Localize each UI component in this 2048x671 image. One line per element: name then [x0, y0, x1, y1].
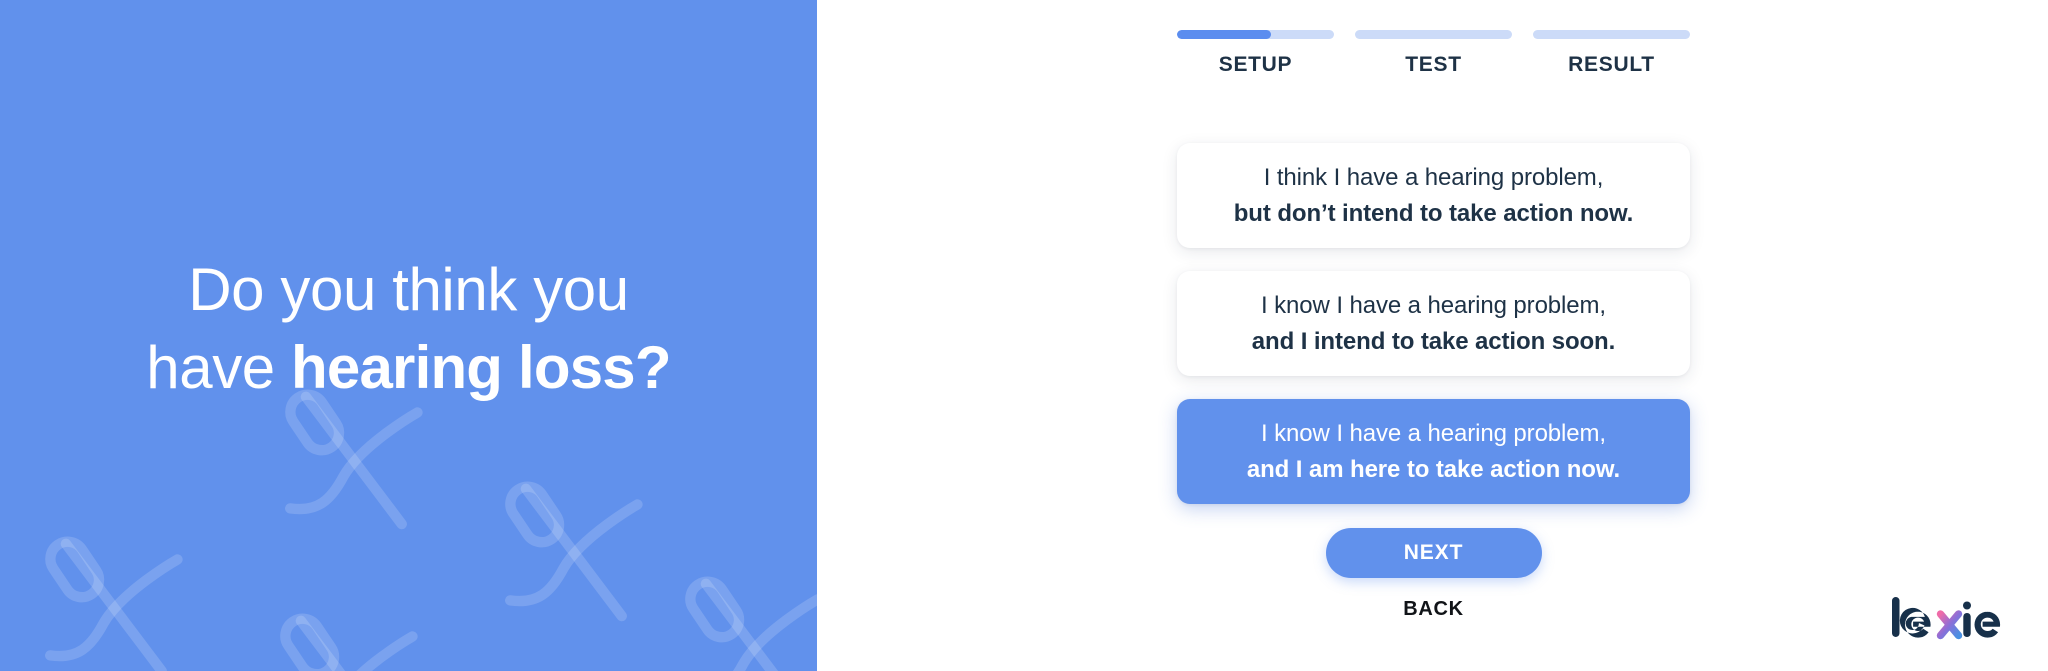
hearing-test-setup-screen: Do you think you have hearing loss? SETU…: [0, 0, 2048, 671]
step-test[interactable]: TEST: [1355, 30, 1512, 77]
option-card-3-line-2: and I am here to take action now.: [1247, 455, 1620, 485]
option-card-1-line-1: I think I have a hearing problem,: [1264, 163, 1604, 193]
step-test-progress-bar: [1355, 30, 1512, 39]
option-card-3-line-1: I know I have a hearing problem,: [1261, 419, 1606, 449]
hero-panel: Do you think you have hearing loss?: [0, 0, 817, 671]
headline-line-2-light: have: [146, 334, 291, 401]
step-setup-label: SETUP: [1219, 53, 1293, 77]
page-title: Do you think you have hearing loss?: [146, 251, 670, 407]
step-result-label: RESULT: [1568, 53, 1655, 77]
lexie-logo: [1890, 593, 2014, 647]
step-test-label: TEST: [1405, 53, 1461, 77]
option-list: I think I have a hearing problem, but do…: [1177, 143, 1690, 527]
stepper: SETUP TEST RESULT: [1177, 30, 1690, 77]
option-card-2-line-1: I know I have a hearing problem,: [1261, 291, 1606, 321]
headline-line-2-bold: hearing loss?: [291, 334, 671, 401]
headline-line-1: Do you think you: [188, 256, 629, 323]
option-card-2-line-2: and I intend to take action soon.: [1252, 327, 1615, 357]
step-result[interactable]: RESULT: [1533, 30, 1690, 77]
back-button[interactable]: BACK: [1403, 598, 1464, 621]
step-setup[interactable]: SETUP: [1177, 30, 1334, 77]
hero-copy: Do you think you have hearing loss?: [0, 0, 817, 671]
form-actions: NEXT BACK: [1177, 528, 1690, 621]
step-setup-progress-fill: [1177, 30, 1271, 39]
next-button[interactable]: NEXT: [1326, 528, 1542, 578]
option-card-1[interactable]: I think I have a hearing problem, but do…: [1177, 143, 1690, 248]
step-setup-progress-bar: [1177, 30, 1334, 39]
option-card-1-line-2: but don’t intend to take action now.: [1234, 199, 1633, 229]
step-result-progress-bar: [1533, 30, 1690, 39]
option-card-3[interactable]: I know I have a hearing problem, and I a…: [1177, 399, 1690, 504]
option-card-2[interactable]: I know I have a hearing problem, and I i…: [1177, 271, 1690, 376]
